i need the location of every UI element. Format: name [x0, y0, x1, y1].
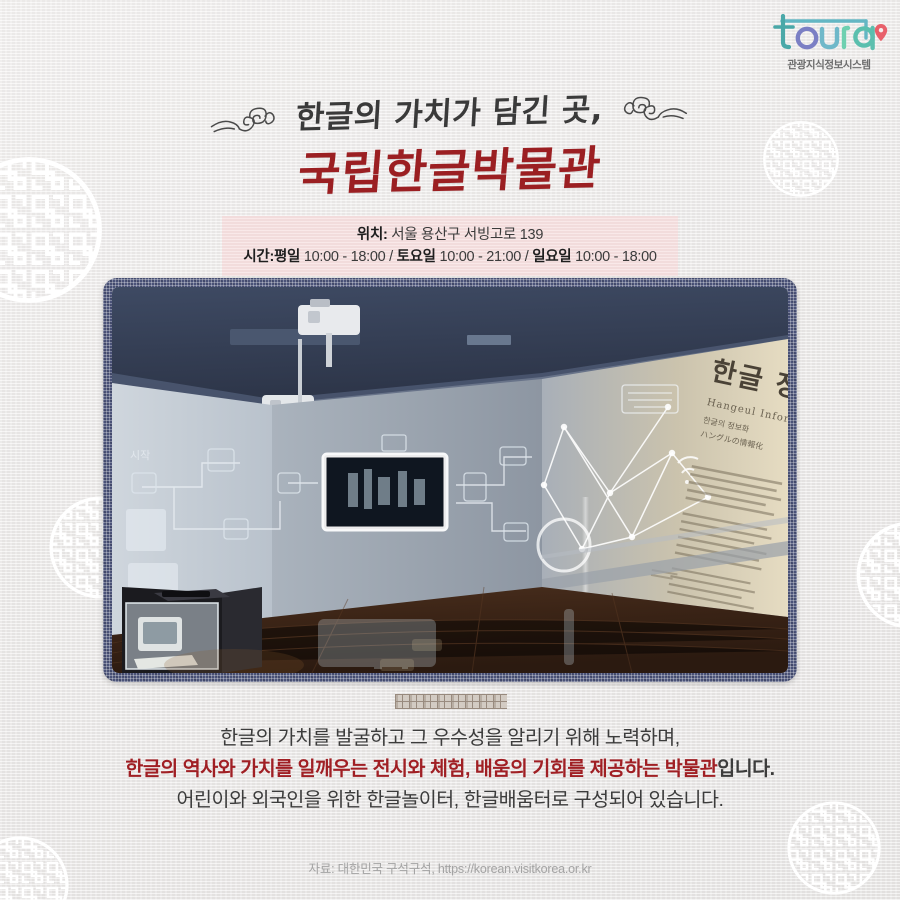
title-line-1: 한글의 가치가 담긴 곳, [295, 92, 604, 137]
logo-subtitle: 관광지식정보시스템 [770, 57, 888, 72]
tour-logo[interactable]: 관광지식정보시스템 [770, 14, 888, 78]
tour-wordmark-icon [770, 14, 888, 56]
info-hours-time-1: 10:00 - 21:00 [439, 249, 521, 265]
description-line-3: 어린이와 외국인을 위한 한글놀이터, 한글배움터로 구성되어 있습니다. [0, 785, 900, 816]
poster-card: 관광지식정보시스템 한글의 가치가 담긴 곳, [0, 0, 900, 900]
info-hours-time-0: 10:00 - 18:00 [304, 249, 386, 265]
poster-title: 한글의 가치가 담긴 곳, 국립한글박물관 [0, 88, 900, 201]
cloud-motif-left-icon [209, 105, 277, 139]
info-box: 위치: 서울 용산구 서빙고로 139 시간:평일 10:00 - 18:00 … [222, 216, 678, 276]
title-line-2: 국립한글박물관 [0, 126, 900, 211]
description-line-1: 한글의 가치를 발굴하고 그 우수성을 알리기 위해 노력하며, [0, 723, 900, 754]
info-hours-row: 시간:평일 10:00 - 18:00 / 토요일 10:00 - 21:00 … [243, 246, 656, 268]
info-hours-day-0: 평일 [274, 249, 300, 265]
description-block: 한글의 가치를 발굴하고 그 우수성을 알리기 위해 노력하며, 한글의 역사와… [0, 723, 900, 816]
cloud-motif-right-icon [622, 93, 690, 127]
ornamental-divider [395, 694, 507, 709]
map-pin-icon [875, 24, 887, 41]
info-hours-sep-0: / [389, 249, 393, 265]
description-line-2-accent: 한글의 역사와 가치를 일깨우는 전시와 체험, 배움의 기회를 제공하는 박물… [125, 758, 717, 780]
info-hours-label: 시간: [243, 249, 274, 265]
title-line-1-wrap: 한글의 가치가 담긴 곳, [295, 84, 605, 138]
museum-photo: 시작 [112, 287, 788, 673]
info-location-row: 위치: 서울 용산구 서빙고로 139 [357, 224, 543, 246]
info-hours-day-1: 토요일 [397, 249, 436, 265]
info-location-label: 위치: [357, 227, 388, 243]
info-hours-day-2: 일요일 [532, 249, 571, 265]
photo-frame: 시작 [103, 278, 797, 682]
watermark-medallion-mid-right [855, 520, 900, 630]
svg-text:시작: 시작 [130, 449, 150, 462]
source-footer: 자료: 대한민국 구석구석, https://korean.visitkorea… [0, 858, 900, 877]
description-line-2-tail: 입니다. [717, 758, 774, 780]
museum-photo-illustration: 시작 [112, 287, 788, 673]
info-hours-time-2: 10:00 - 18:00 [575, 249, 657, 265]
info-hours-sep-1: / [525, 249, 529, 265]
tour-logo-mark [770, 14, 888, 56]
info-location-value: 서울 용산구 서빙고로 139 [391, 227, 543, 243]
description-line-2: 한글의 역사와 가치를 일깨우는 전시와 체험, 배움의 기회를 제공하는 박물… [0, 754, 900, 785]
